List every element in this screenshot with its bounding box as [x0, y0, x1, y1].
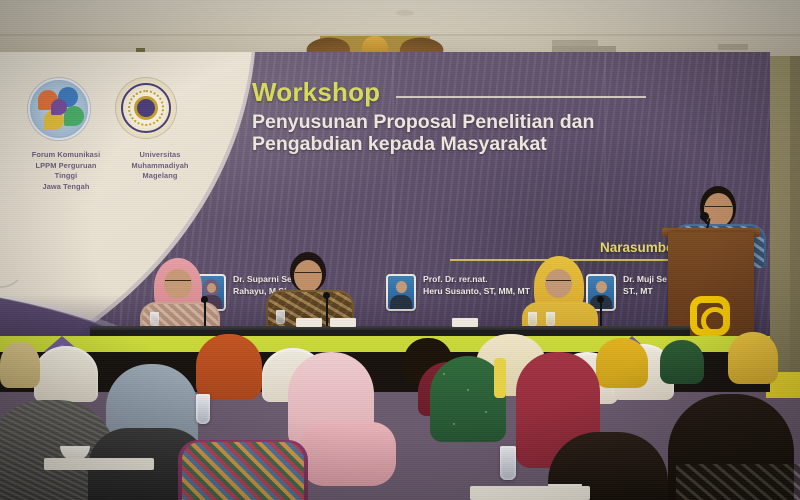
organizer-logos: Forum Komunikasi LPPM Perguruan Tinggi J… [22, 78, 202, 193]
logo-row [22, 78, 202, 140]
audience [0, 336, 800, 500]
panelist-1-face [164, 269, 192, 299]
table-microphone-2 [323, 292, 330, 299]
presenter-glasses [705, 206, 732, 210]
table-namecard-3 [452, 318, 478, 327]
table-namecard-1 [296, 318, 322, 327]
organizer-caption-1: Forum Komunikasi LPPM Perguruan Tinggi J… [24, 150, 108, 193]
table-microphone-1 [201, 296, 208, 303]
water-glass-1 [196, 394, 210, 424]
panelist-3-glasses [546, 280, 571, 284]
table-microphone-stem-1 [204, 300, 206, 326]
water-glass-2 [500, 446, 516, 480]
table-microphone-stem-3 [600, 300, 602, 326]
attendee-pink-hijab-body [300, 422, 396, 486]
photograph-scene: Forum Komunikasi LPPM Perguruan Tinggi J… [0, 0, 800, 500]
panelist-2-glasses [295, 272, 321, 276]
panelist-2-face [294, 260, 322, 292]
table-glass-3 [528, 312, 537, 326]
headline-rule [396, 96, 646, 98]
table-glass-2 [276, 310, 285, 324]
attendee-front-shirt-pattern [676, 464, 800, 500]
headline-eyebrow: Workshop [252, 79, 722, 105]
table-namecard-2 [330, 318, 356, 327]
attendee-yellow-hijab-right [728, 332, 778, 384]
institution-logo [690, 296, 730, 336]
ceiling-vent-right [718, 44, 748, 50]
attendee-orange-hijab [196, 334, 262, 400]
table-microphone-3 [597, 296, 604, 303]
table-microphone-stem-2 [326, 296, 328, 326]
attendee-front-batik-pattern [182, 442, 304, 500]
table-linen-1 [44, 458, 154, 470]
ceiling-speaker [396, 10, 414, 16]
banner-headline: Workshop Penyusunan Proposal Penelitian … [252, 79, 722, 155]
attendee-left-edge [0, 342, 40, 388]
headline-subtitle: Penyusunan Proposal Penelitian dan Penga… [252, 111, 722, 155]
organizer-caption-2: Universitas Muhammadiyah Magelang [118, 150, 202, 193]
narasumber-label: Narasumber [600, 240, 679, 255]
attendee-gold-hijab [596, 338, 648, 388]
universitas-muhammadiyah-magelang-logo [116, 78, 176, 138]
attendee-green-batik [660, 340, 704, 384]
forum-komunikasi-logo [28, 78, 90, 140]
logo-captions: Forum Komunikasi LPPM Perguruan Tinggi J… [22, 150, 202, 193]
event-banner: Forum Komunikasi LPPM Perguruan Tinggi J… [0, 52, 770, 352]
panelist-1-glasses [165, 280, 191, 284]
table-linen-2 [470, 486, 590, 500]
chair-1 [34, 346, 98, 402]
attendee-yellow-sash [494, 358, 506, 398]
table-glass-4 [546, 312, 555, 326]
table-glass-1 [150, 312, 159, 326]
